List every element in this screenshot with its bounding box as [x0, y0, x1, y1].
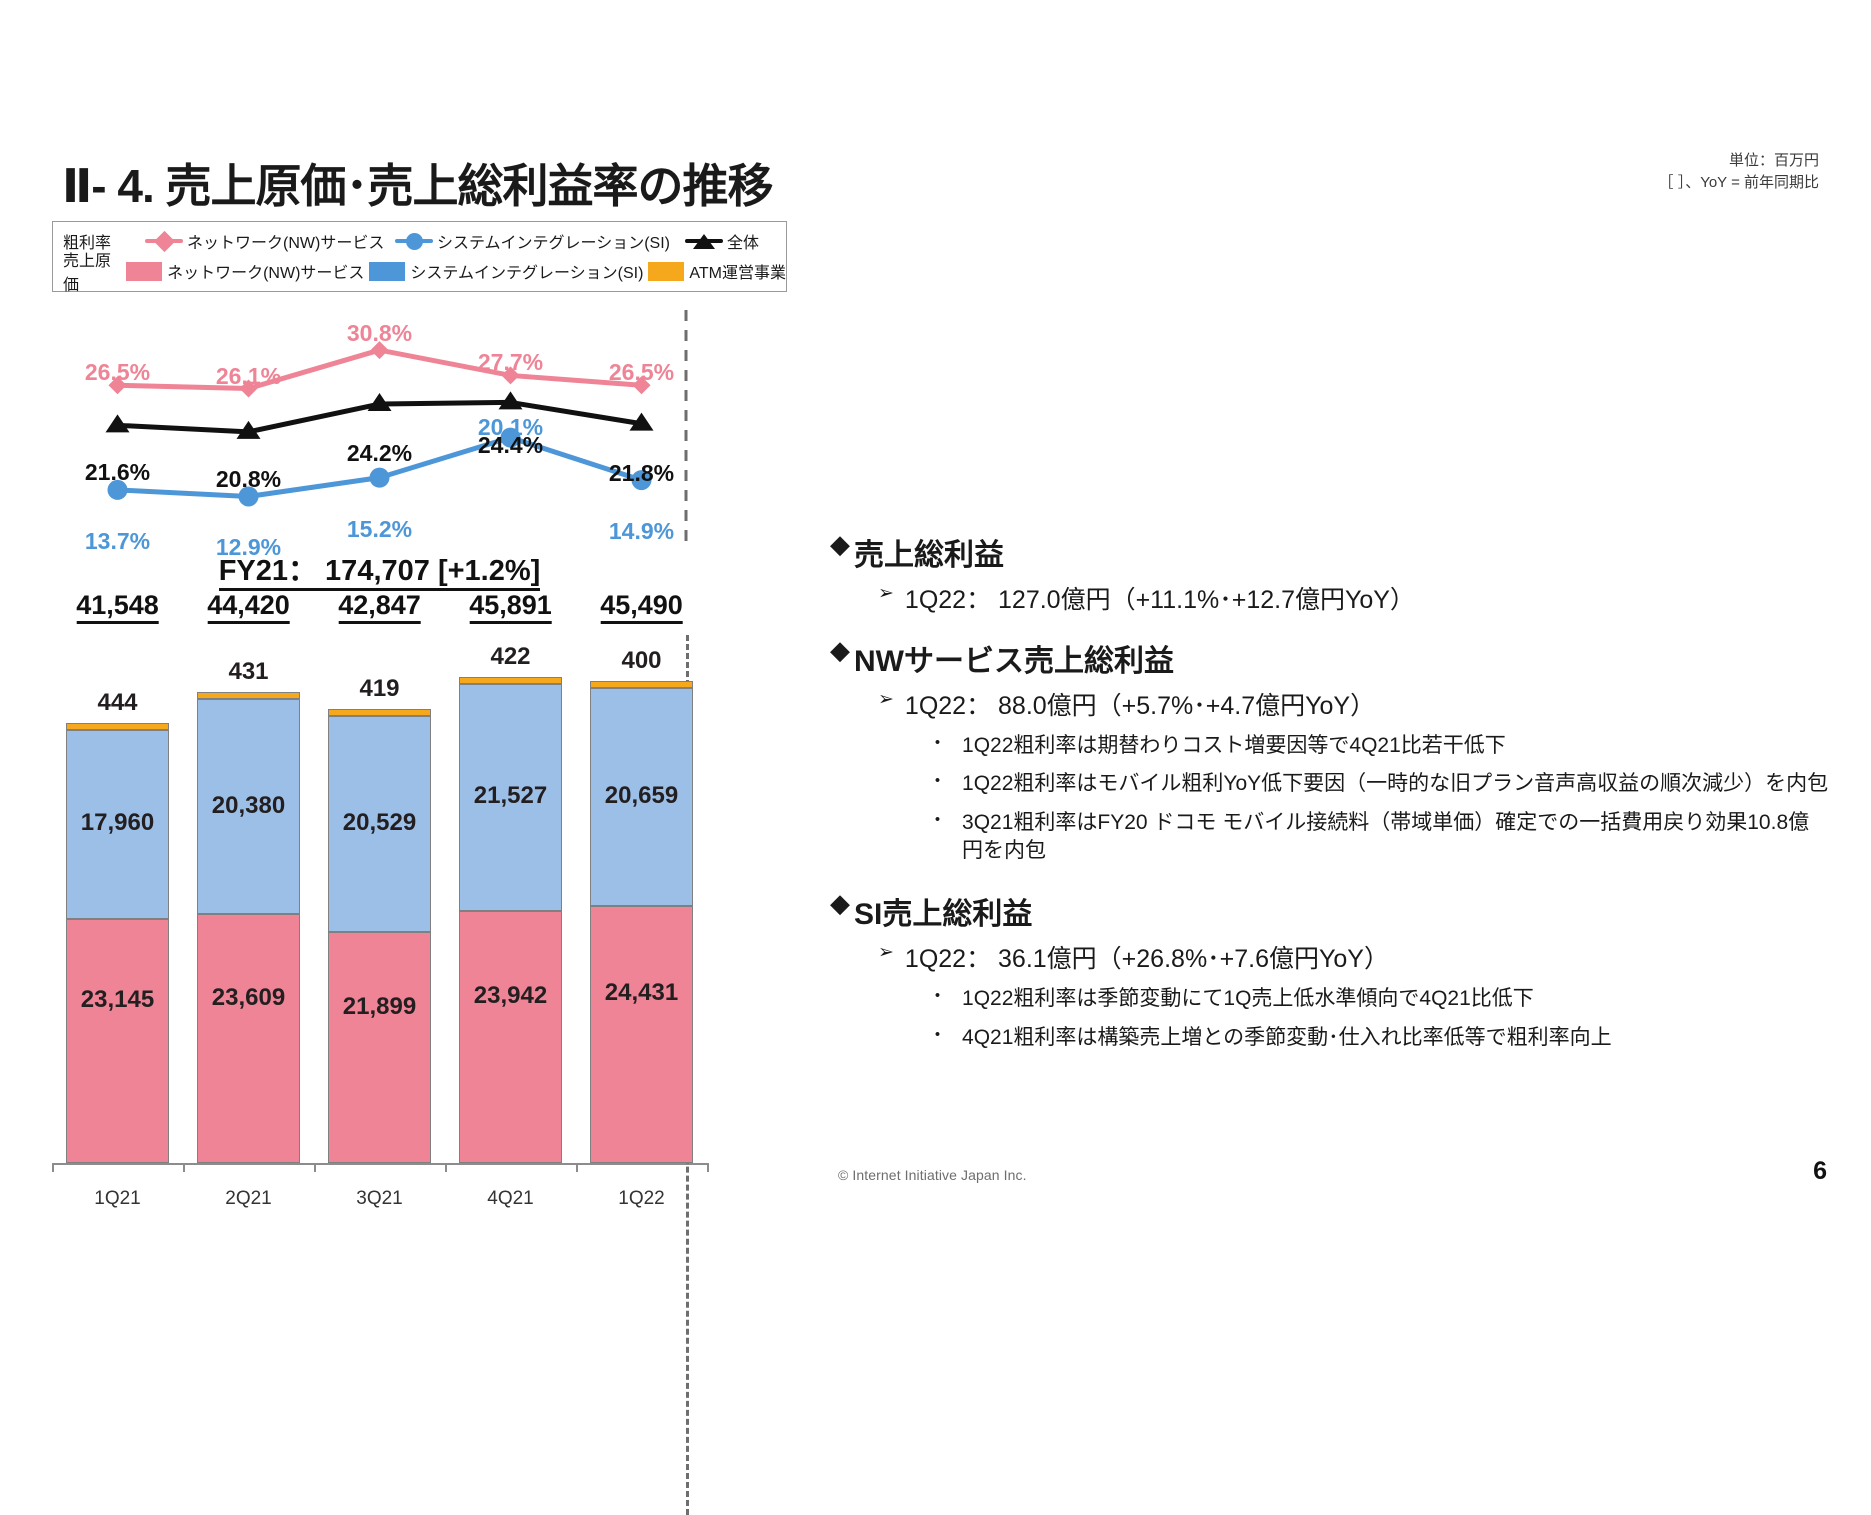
- legend-item-nw-cost: ネットワーク(NW)サービス: [121, 259, 364, 283]
- legend-label: ATM運営事業: [689, 259, 786, 283]
- bar-segment-si[interactable]: 21,527: [459, 684, 562, 911]
- legend-item-nw-rate: ネットワーク(NW)サービス: [141, 229, 391, 253]
- bar-segment-label-si: 17,960: [67, 809, 168, 837]
- line-point-label: 21.8%: [609, 460, 674, 487]
- spacer: [830, 622, 1830, 636]
- x-axis-tick: [576, 1163, 578, 1172]
- legend-label: 全体: [727, 229, 759, 253]
- legend-item-si-cost: システムインテグレーション(SI): [364, 259, 643, 283]
- diamond-bullet-icon: ◆: [830, 530, 850, 560]
- x-axis-label: 3Q21: [356, 1188, 402, 1210]
- square-swatch-icon: [364, 262, 410, 281]
- arrow-bullet-icon: ➢: [878, 580, 894, 608]
- bar-segment-label-nw: 23,609: [198, 984, 299, 1012]
- bar-column[interactable]: 23,60920,380431: [197, 692, 300, 1163]
- commentary-subpoint-text: 1Q22粗利率は期替わりコスト増要因等で4Q21比若干低下: [962, 732, 1506, 760]
- square-swatch-icon: [121, 262, 167, 281]
- commentary-point: ➢1Q22： 88.0億円（+5.7%･+4.7億円YoY）: [878, 686, 1830, 722]
- square-swatch-icon: [643, 262, 689, 281]
- legend-label: システムインテグレーション(SI): [410, 259, 643, 283]
- bar-column[interactable]: 24,43120,659400: [590, 681, 693, 1163]
- slide-root: Ⅱ- 4. 売上原価･売上総利益率の推移 単位：百万円 ［ ］、YoY = 前年…: [0, 0, 1871, 1323]
- diamond-marker-icon: [141, 234, 187, 249]
- commentary-subpoint-text: 4Q21粗利率は構築売上増との季節変動･仕入れ比率低等で粗利率向上: [962, 1024, 1612, 1052]
- legend-row-margin: 粗利率 ネットワーク(NW)サービス システムインテグレーション(SI): [53, 226, 786, 256]
- legend-row2-caption: 売上原価: [53, 247, 121, 295]
- gross-margin-line-chart: 26.5%26.1%30.8%27.7%26.5%21.6%20.8%24.2%…: [52, 300, 752, 550]
- dot-bullet-icon: ・: [928, 1024, 947, 1049]
- x-axis-label: 4Q21: [487, 1188, 533, 1210]
- commentary-point-text: 1Q22： 88.0億円（+5.7%･+4.7億円YoY）: [905, 686, 1375, 722]
- line-point-label: 24.2%: [347, 440, 412, 467]
- commentary-subpoint: ・4Q21粗利率は構築売上増との季節変動･仕入れ比率低等で粗利率向上: [928, 1024, 1830, 1052]
- commentary-heading: ◆SI売上総利益: [830, 889, 1830, 933]
- bar-total-label: 42,847: [338, 590, 421, 624]
- x-axis-label: 1Q22: [618, 1188, 664, 1210]
- commentary-point-text: 1Q22： 127.0億円（+11.1%･+12.7億円YoY）: [905, 580, 1415, 616]
- line-point-label: 20.8%: [216, 466, 281, 493]
- commentary-subpoint: ・3Q21粗利率はFY20 ドコモ モバイル接続料（帯域単価）確定での一括費用戻…: [928, 809, 1830, 866]
- commentary-point-text: 1Q22： 36.1億円（+26.8%･+7.6億円YoY）: [905, 939, 1389, 975]
- dot-bullet-icon: ・: [928, 809, 947, 834]
- commentary-subpoint-text: 1Q22粗利率はモバイル粗利YoY低下要因（一時的な旧プラン音声高収益の順次減少…: [962, 770, 1828, 798]
- legend-label: システムインテグレーション(SI): [437, 229, 670, 253]
- triangle-marker-icon: [681, 234, 727, 249]
- legend-label: ネットワーク(NW)サービス: [187, 229, 384, 253]
- commentary-subpoint-text: 1Q22粗利率は季節変動にて1Q売上低水準傾向で4Q21比低下: [962, 985, 1534, 1013]
- x-axis-label: 2Q21: [225, 1188, 271, 1210]
- bar-segment-label-atm: 400: [590, 647, 693, 675]
- bar-segment-nw[interactable]: 23,609: [197, 914, 300, 1163]
- bar-segment-label-nw: 23,942: [460, 982, 561, 1010]
- bar-segment-nw[interactable]: 21,899: [328, 932, 431, 1163]
- combo-chart: 26.5%26.1%30.8%27.7%26.5%21.6%20.8%24.2%…: [52, 300, 792, 1130]
- commentary-subpoint: ・1Q22粗利率はモバイル粗利YoY低下要因（一時的な旧プラン音声高収益の順次減…: [928, 770, 1830, 798]
- legend-label: ネットワーク(NW)サービス: [167, 259, 364, 283]
- bar-segment-atm[interactable]: [459, 677, 562, 684]
- diamond-bullet-icon: ◆: [830, 636, 850, 666]
- bar-total-labels: 41,54844,42042,84745,89145,490: [52, 590, 707, 630]
- bar-segment-label-atm: 419: [328, 675, 431, 703]
- legend-item-atm-cost: ATM運営事業: [643, 259, 786, 283]
- legend-item-si-rate: システムインテグレーション(SI): [391, 229, 681, 253]
- x-axis-tick: [707, 1163, 709, 1172]
- bar-total-label: 45,490: [600, 590, 683, 624]
- line-point-label: 26.5%: [85, 359, 150, 386]
- dot-bullet-icon: ・: [928, 985, 947, 1010]
- bar-segment-label-atm: 431: [197, 658, 300, 686]
- commentary-heading-text: NWサービス売上総利益: [854, 636, 1174, 680]
- circle-marker-icon: [391, 233, 437, 250]
- unit-note-block: 単位：百万円 ［ ］、YoY = 前年同期比: [1659, 150, 1819, 194]
- bar-column[interactable]: 21,89920,529419: [328, 709, 431, 1163]
- bar-total-label: 45,891: [469, 590, 552, 624]
- stacked-bar-chart: 23,14517,9604441Q2123,60920,3804312Q2121…: [52, 645, 707, 1220]
- bar-segment-label-nw: 23,145: [67, 986, 168, 1014]
- bar-segment-label-nw: 24,431: [591, 979, 692, 1007]
- bar-segment-atm[interactable]: [328, 709, 431, 716]
- page-title: Ⅱ- 4. 売上原価･売上総利益率の推移: [62, 150, 773, 216]
- bar-segment-atm[interactable]: [590, 681, 693, 688]
- line-point-label: 15.2%: [347, 516, 412, 543]
- bar-segment-label-si: 20,659: [591, 782, 692, 810]
- dot-bullet-icon: ・: [928, 732, 947, 757]
- bar-segment-nw[interactable]: 24,431: [590, 906, 693, 1163]
- commentary-point: ➢1Q22： 127.0億円（+11.1%･+12.7億円YoY）: [878, 580, 1830, 616]
- bar-segment-si[interactable]: 20,380: [197, 699, 300, 914]
- bar-column[interactable]: 23,94221,527422: [459, 677, 562, 1163]
- bar-total-label: 41,548: [76, 590, 159, 624]
- line-point-label: 21.6%: [85, 459, 150, 486]
- arrow-bullet-icon: ➢: [878, 939, 894, 967]
- commentary-heading-text: 売上総利益: [854, 530, 1004, 574]
- bar-segment-atm[interactable]: [197, 692, 300, 699]
- line-point-label: 26.5%: [609, 359, 674, 386]
- bar-segment-si[interactable]: 20,659: [590, 688, 693, 906]
- x-axis-tick: [52, 1163, 54, 1172]
- legend-row-cost: 売上原価 ネットワーク(NW)サービス システムインテグレーション(SI) AT…: [53, 256, 786, 286]
- bar-segment-label-si: 21,527: [460, 782, 561, 810]
- x-axis-line: [52, 1163, 707, 1165]
- dot-bullet-icon: ・: [928, 770, 947, 795]
- diamond-bullet-icon: ◆: [830, 889, 850, 919]
- line-point-label: 14.9%: [609, 518, 674, 545]
- commentary-subpoint: ・1Q22粗利率は季節変動にて1Q売上低水準傾向で4Q21比低下: [928, 985, 1830, 1013]
- bar-segment-si[interactable]: 17,960: [66, 730, 169, 919]
- bar-segment-label-atm: 422: [459, 643, 562, 671]
- bar-total-label: 44,420: [207, 590, 290, 624]
- bar-segment-nw[interactable]: 23,942: [459, 911, 562, 1163]
- bar-segment-label-nw: 21,899: [329, 993, 430, 1021]
- yoy-note: ［ ］、YoY = 前年同期比: [1659, 172, 1819, 194]
- arrow-bullet-icon: ➢: [878, 686, 894, 714]
- x-axis-tick: [183, 1163, 185, 1172]
- commentary-heading: ◆NWサービス売上総利益: [830, 636, 1830, 680]
- bar-segment-label-si: 20,529: [329, 809, 430, 837]
- fy-summary-text: FY21： 174,707 [+1.2%]: [219, 555, 541, 591]
- fy-summary: FY21： 174,707 [+1.2%]: [52, 547, 707, 589]
- commentary-point: ➢1Q22： 36.1億円（+26.8%･+7.6億円YoY）: [878, 939, 1830, 975]
- x-axis-tick: [314, 1163, 316, 1172]
- line-point-label: 27.7%: [478, 349, 543, 376]
- line-point-label: 20.1%: [478, 414, 543, 441]
- spacer: [830, 1062, 1830, 1076]
- bar-segment-si[interactable]: 20,529: [328, 716, 431, 932]
- legend-item-total-rate: 全体: [681, 229, 759, 253]
- bar-segment-nw[interactable]: 23,145: [66, 919, 169, 1163]
- line-point-label: 26.1%: [216, 363, 281, 390]
- chart-legend: 粗利率 ネットワーク(NW)サービス システムインテグレーション(SI): [52, 221, 787, 292]
- page-number: 6: [1813, 1157, 1827, 1186]
- line-point-label: 30.8%: [347, 320, 412, 347]
- bar-segment-atm[interactable]: [66, 723, 169, 730]
- copyright-text: © Internet Initiative Japan Inc.: [838, 1167, 1027, 1183]
- x-axis-tick: [445, 1163, 447, 1172]
- commentary-subpoint-text: 3Q21粗利率はFY20 ドコモ モバイル接続料（帯域単価）確定での一括費用戻り…: [962, 809, 1830, 866]
- commentary-heading: ◆売上総利益: [830, 530, 1830, 574]
- commentary-panel: ◆売上総利益➢1Q22： 127.0億円（+11.1%･+12.7億円YoY）◆…: [830, 530, 1830, 1076]
- bar-segment-label-atm: 444: [66, 689, 169, 717]
- x-axis-label: 1Q21: [94, 1188, 140, 1210]
- bar-column[interactable]: 23,14517,960444: [66, 723, 169, 1163]
- spacer: [830, 875, 1830, 889]
- unit-note: 単位：百万円: [1659, 150, 1819, 172]
- commentary-subpoint: ・1Q22粗利率は期替わりコスト増要因等で4Q21比若干低下: [928, 732, 1830, 760]
- bar-segment-label-si: 20,380: [198, 792, 299, 820]
- commentary-heading-text: SI売上総利益: [854, 889, 1032, 933]
